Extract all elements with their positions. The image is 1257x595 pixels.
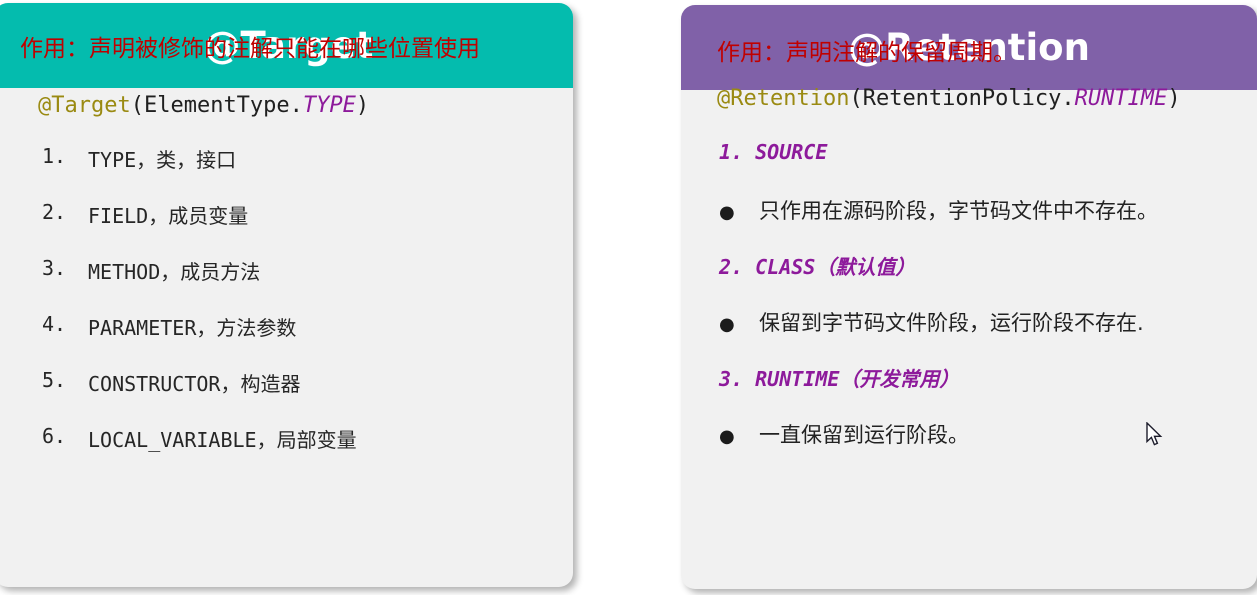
- retention-code-constant: RUNTIME: [1075, 86, 1168, 111]
- retention-code-enum-type: RetentionPolicy.: [863, 86, 1075, 111]
- retention-code-annotation: @Retention: [717, 86, 849, 111]
- target-code-open-paren: (: [131, 93, 144, 118]
- retention-code-open-paren: (: [849, 86, 862, 111]
- list-item: 3. METHOD，成员方法: [42, 256, 260, 285]
- target-code-annotation: @Target: [38, 93, 131, 118]
- policy-bullet-runtime: ● 一直保留到运行阶段。: [719, 419, 969, 449]
- list-item-label: CONSTRUCTOR，构造器: [88, 368, 300, 397]
- retention-code-close-paren: ): [1167, 86, 1180, 111]
- policy-label-runtime: 3. RUNTIME（开发常用）: [719, 363, 959, 392]
- policy-bullet-text: 保留到字节码文件阶段，运行阶段不存在.: [759, 307, 1144, 337]
- list-item-index: 4.: [42, 312, 88, 341]
- list-item-index: 3.: [42, 256, 88, 285]
- retention-purpose-text: 作用：声明注解的保留周期。: [717, 33, 1016, 67]
- retention-code-line: @Retention(RetentionPolicy.RUNTIME): [717, 86, 1181, 111]
- policy-bullet-text: 一直保留到运行阶段。: [759, 419, 969, 449]
- bullet-icon: ●: [719, 316, 759, 334]
- target-purpose-text: 作用：声明被修饰的注解只能在哪些位置使用: [20, 29, 480, 63]
- list-item: 4. PARAMETER，方法参数: [42, 312, 296, 341]
- bullet-icon: ●: [719, 204, 759, 222]
- policy-bullet-class: ● 保留到字节码文件阶段，运行阶段不存在.: [719, 307, 1144, 337]
- list-item: 1. TYPE，类，接口: [42, 144, 236, 173]
- list-item-index: 1.: [42, 144, 88, 173]
- list-item-label: TYPE，类，接口: [88, 144, 236, 173]
- list-item-index: 2.: [42, 200, 88, 229]
- policy-label-class: 2. CLASS（默认值）: [719, 251, 915, 280]
- list-item-label: PARAMETER，方法参数: [88, 312, 296, 341]
- list-item: 5. CONSTRUCTOR，构造器: [42, 368, 300, 397]
- policy-label-source: 1. SOURCE: [719, 140, 827, 164]
- list-item-index: 6.: [42, 424, 88, 453]
- target-code-enum-type: ElementType.: [144, 93, 303, 118]
- target-code-constant: TYPE: [303, 93, 356, 118]
- policy-bullet-text: 只作用在源码阶段，字节码文件中不存在。: [759, 195, 1158, 225]
- list-item: 6. LOCAL_VARIABLE，局部变量: [42, 424, 357, 453]
- policy-bullet-source: ● 只作用在源码阶段，字节码文件中不存在。: [719, 195, 1158, 225]
- slide-canvas: @Target 作用：声明被修饰的注解只能在哪些位置使用 @Target(Ele…: [0, 0, 1257, 595]
- card-retention: @Retention 作用：声明注解的保留周期。 @Retention(Rete…: [681, 5, 1257, 589]
- list-item-label: FIELD，成员变量: [88, 200, 248, 229]
- list-item-label: METHOD，成员方法: [88, 256, 260, 285]
- list-item-index: 5.: [42, 368, 88, 397]
- bullet-icon: ●: [719, 428, 759, 446]
- target-code-close-paren: ): [356, 93, 369, 118]
- list-item-label: LOCAL_VARIABLE，局部变量: [88, 424, 357, 453]
- target-code-line: @Target(ElementType.TYPE): [38, 93, 369, 118]
- card-target: @Target 作用：声明被修饰的注解只能在哪些位置使用 @Target(Ele…: [0, 3, 573, 587]
- list-item: 2. FIELD，成员变量: [42, 200, 248, 229]
